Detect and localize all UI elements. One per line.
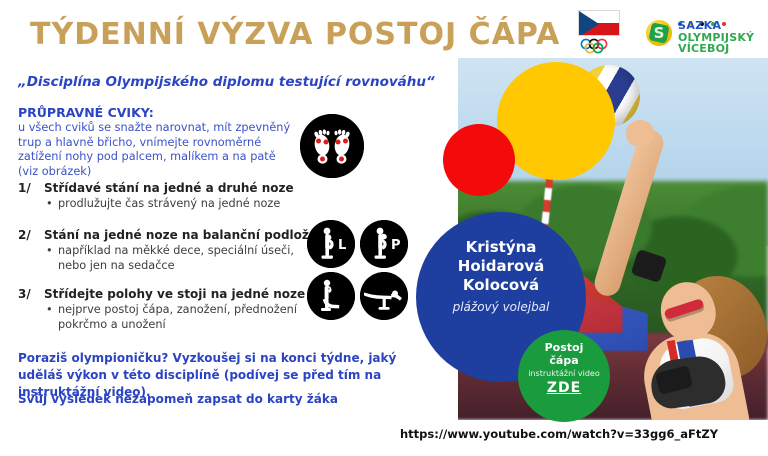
video-badge-line1: Postoj bbox=[518, 341, 610, 354]
video-url[interactable]: https://www.youtube.com/watch?v=33gg6_aF… bbox=[396, 424, 768, 444]
czech-republic-flag bbox=[578, 10, 620, 36]
arabesque-icon bbox=[360, 272, 408, 320]
czech-olympic-emblem bbox=[578, 10, 622, 56]
exercise-2-heading: Stání na jedné noze na balanční podložce bbox=[44, 228, 324, 242]
closing-paragraph-2: Svůj výsledek nezapomeň zapsat do karty … bbox=[18, 392, 438, 406]
athlete-name-line1: Kristýna bbox=[466, 238, 537, 256]
stork-stand-right-icon bbox=[360, 220, 408, 268]
poster-header: TÝDENNÍ VÝZVA POSTOJ ČÁPA S bbox=[0, 0, 768, 62]
exercise-1-number: 1/ bbox=[18, 181, 31, 195]
athlete-name-line3: Kolocová bbox=[463, 276, 539, 294]
exercise-3-heading: Střídejte polohy ve stoji na jedné noze bbox=[44, 287, 305, 301]
exercise-2-number: 2/ bbox=[18, 228, 31, 242]
video-badge-line3: instruktážní video bbox=[518, 369, 610, 378]
sazka-olympic-multisport-logo: S SAZKA OLYMPIJSKÝ VÍCEBOJ bbox=[646, 12, 758, 52]
athlete-name: Kristýna Hoidarová Kolocová bbox=[416, 238, 586, 295]
flag-blue-triangle bbox=[579, 11, 599, 36]
sazka-s-mark-icon: S bbox=[646, 20, 672, 46]
discipline-quote: „Disciplína Olympijského diplomu testují… bbox=[18, 74, 435, 90]
exercise-2-bullet: například na měkké dece, speciální úseči… bbox=[58, 244, 308, 273]
prep-exercises-heading: PRŮPRAVNÉ CVIKY: bbox=[18, 105, 154, 120]
sazka-mark-letter: S bbox=[646, 20, 672, 46]
knee-raise-icon bbox=[307, 272, 355, 320]
video-link-zde[interactable]: ZDE bbox=[518, 380, 610, 396]
athlete-name-line2: Hoidarová bbox=[458, 257, 544, 275]
right-leg-letter: P bbox=[391, 238, 401, 253]
stork-stand-left-icon bbox=[307, 220, 355, 268]
weekly-challenge-poster: TÝDENNÍ VÝZVA POSTOJ ČÁPA S bbox=[0, 0, 768, 456]
left-leg-letter: L bbox=[338, 238, 346, 253]
sazka-tagline-line2: VÍCEBOJ bbox=[678, 42, 729, 55]
exercise-3-number: 3/ bbox=[18, 287, 31, 301]
olympic-rings-icon bbox=[579, 38, 619, 54]
prep-exercises-body: u všech cviků se snažte narovnat, mít zp… bbox=[18, 121, 294, 179]
athlete-sport: plážový volejbal bbox=[416, 300, 586, 314]
decor-red-circle bbox=[443, 124, 515, 196]
footprints-icon bbox=[300, 114, 364, 178]
exercise-1-heading: Střídavé stání na jedné a druhé noze bbox=[44, 181, 294, 195]
video-badge-line2: čápa bbox=[518, 354, 610, 367]
exercise-1-bullet: prodlužujte čas strávený na jedné noze bbox=[58, 197, 308, 212]
exercise-3-bullet: nejprve postoj čápa, zanožení, přednožen… bbox=[58, 303, 308, 332]
page-title: TÝDENNÍ VÝZVA POSTOJ ČÁPA bbox=[30, 17, 560, 52]
